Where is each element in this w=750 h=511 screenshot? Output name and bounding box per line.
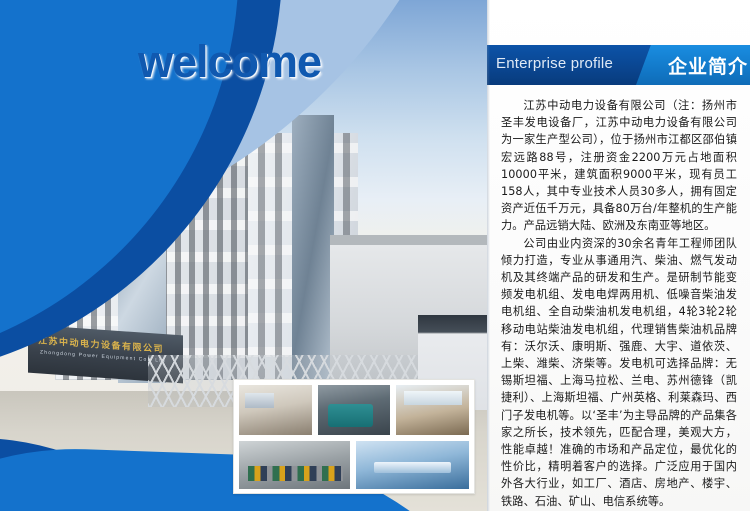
- office-meeting-photo: [238, 384, 313, 436]
- ribbon-chinese-label: 企业简介: [668, 52, 748, 79]
- profile-paragraph-2: 公司由业内资深的30余名青年工程师团队倾力打造，专业从事通用汽、柴油、燃气发动机…: [501, 235, 737, 510]
- right-content-panel: Enterprise profile 企业简介 江苏中动电力设备有限公司（注：扬…: [487, 0, 750, 511]
- page-root: 中动电力 江苏中动电力设备有限公司 Zhongdong Power Equipm…: [0, 0, 750, 511]
- enterprise-profile-ribbon: Enterprise profile 企业简介: [487, 45, 750, 85]
- reception-office-photo: [395, 384, 470, 436]
- panel-divider-shadow: [487, 0, 490, 511]
- collage-row-top: [238, 384, 470, 436]
- conference-room-photo: [355, 440, 470, 490]
- tall-stair-tower: [292, 115, 334, 382]
- collage-row-bottom: [238, 440, 470, 490]
- welcome-heading: welcome: [138, 36, 321, 88]
- photo-collage: [233, 379, 475, 494]
- ribbon-english-label: Enterprise profile: [496, 55, 613, 72]
- company-profile-text: 江苏中动电力设备有限公司（注：扬州市圣丰发电设备厂，江苏中动电力设备有限公司为一…: [501, 97, 737, 510]
- profile-paragraph-1: 江苏中动电力设备有限公司（注：扬州市圣丰发电设备厂，江苏中动电力设备有限公司为一…: [501, 97, 737, 235]
- factory-floor-photo: [238, 440, 351, 490]
- left-hero-panel: 中动电力 江苏中动电力设备有限公司 Zhongdong Power Equipm…: [0, 0, 487, 511]
- generator-workshop-photo: [317, 384, 392, 436]
